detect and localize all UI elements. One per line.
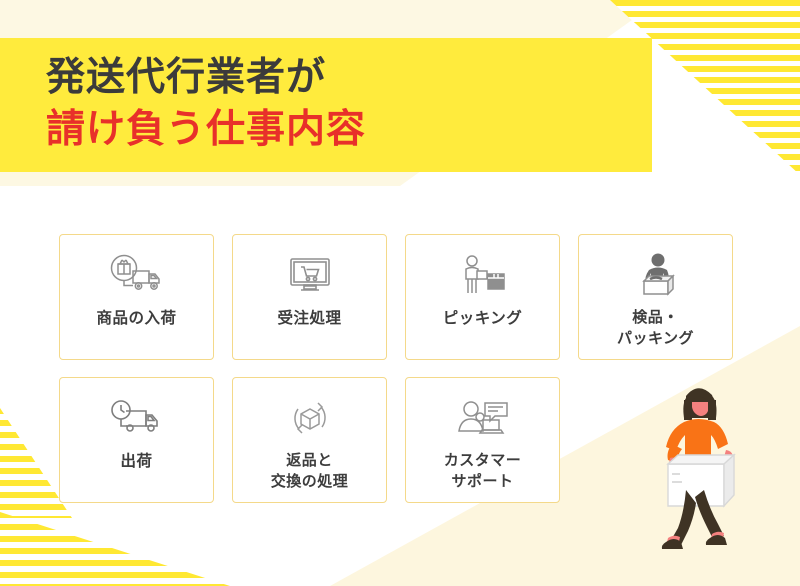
infographic-canvas: 発送代行業者が 請け負う仕事内容 <box>0 0 800 586</box>
card-returns-exchange[interactable]: 返品と 交換の処理 <box>232 377 387 503</box>
card-label: 検品・ パッキング <box>617 307 694 349</box>
box-return-arrows-icon <box>287 394 333 444</box>
truck-delivery-box-icon <box>107 251 167 301</box>
card-picking[interactable]: ピッキング <box>405 234 560 360</box>
monitor-shopping-cart-icon <box>284 251 336 301</box>
card-label: 出荷 <box>120 450 152 472</box>
card-inspection-packing[interactable]: 検品・ パッキング <box>578 234 733 360</box>
task-card-grid: 商品の入荷 受注処理 <box>59 234 749 520</box>
person-packing-box-icon <box>630 251 682 301</box>
support-agent-laptop-icon <box>454 394 512 444</box>
card-goods-arrival[interactable]: 商品の入荷 <box>59 234 214 360</box>
title-banner: 発送代行業者が 請け負う仕事内容 <box>0 38 652 172</box>
person-carrying-box-illustration <box>648 382 778 572</box>
diagonal-stripes-bottom-left-icon <box>0 512 230 586</box>
clock-truck-icon <box>108 394 166 444</box>
page-title-line-2: 請け負う仕事内容 <box>46 104 366 156</box>
task-card-row-1: 商品の入荷 受注処理 <box>59 234 749 360</box>
card-customer-support[interactable]: カスタマー サポート <box>405 377 560 503</box>
card-label: カスタマー サポート <box>444 450 522 492</box>
card-shipping[interactable]: 出荷 <box>59 377 214 503</box>
card-label: 商品の入荷 <box>96 307 176 329</box>
worker-clipboard-box-icon <box>455 251 511 301</box>
card-label: ピッキング <box>443 307 523 329</box>
card-order-processing[interactable]: 受注処理 <box>232 234 387 360</box>
card-label: 受注処理 <box>277 307 341 329</box>
title-banner-text: 発送代行業者が 請け負う仕事内容 <box>46 52 366 156</box>
card-label: 返品と 交換の処理 <box>271 450 349 492</box>
task-card-row-2: 出荷 返品と 交換の処理 <box>59 377 749 503</box>
page-title-line-1: 発送代行業者が <box>46 52 366 104</box>
